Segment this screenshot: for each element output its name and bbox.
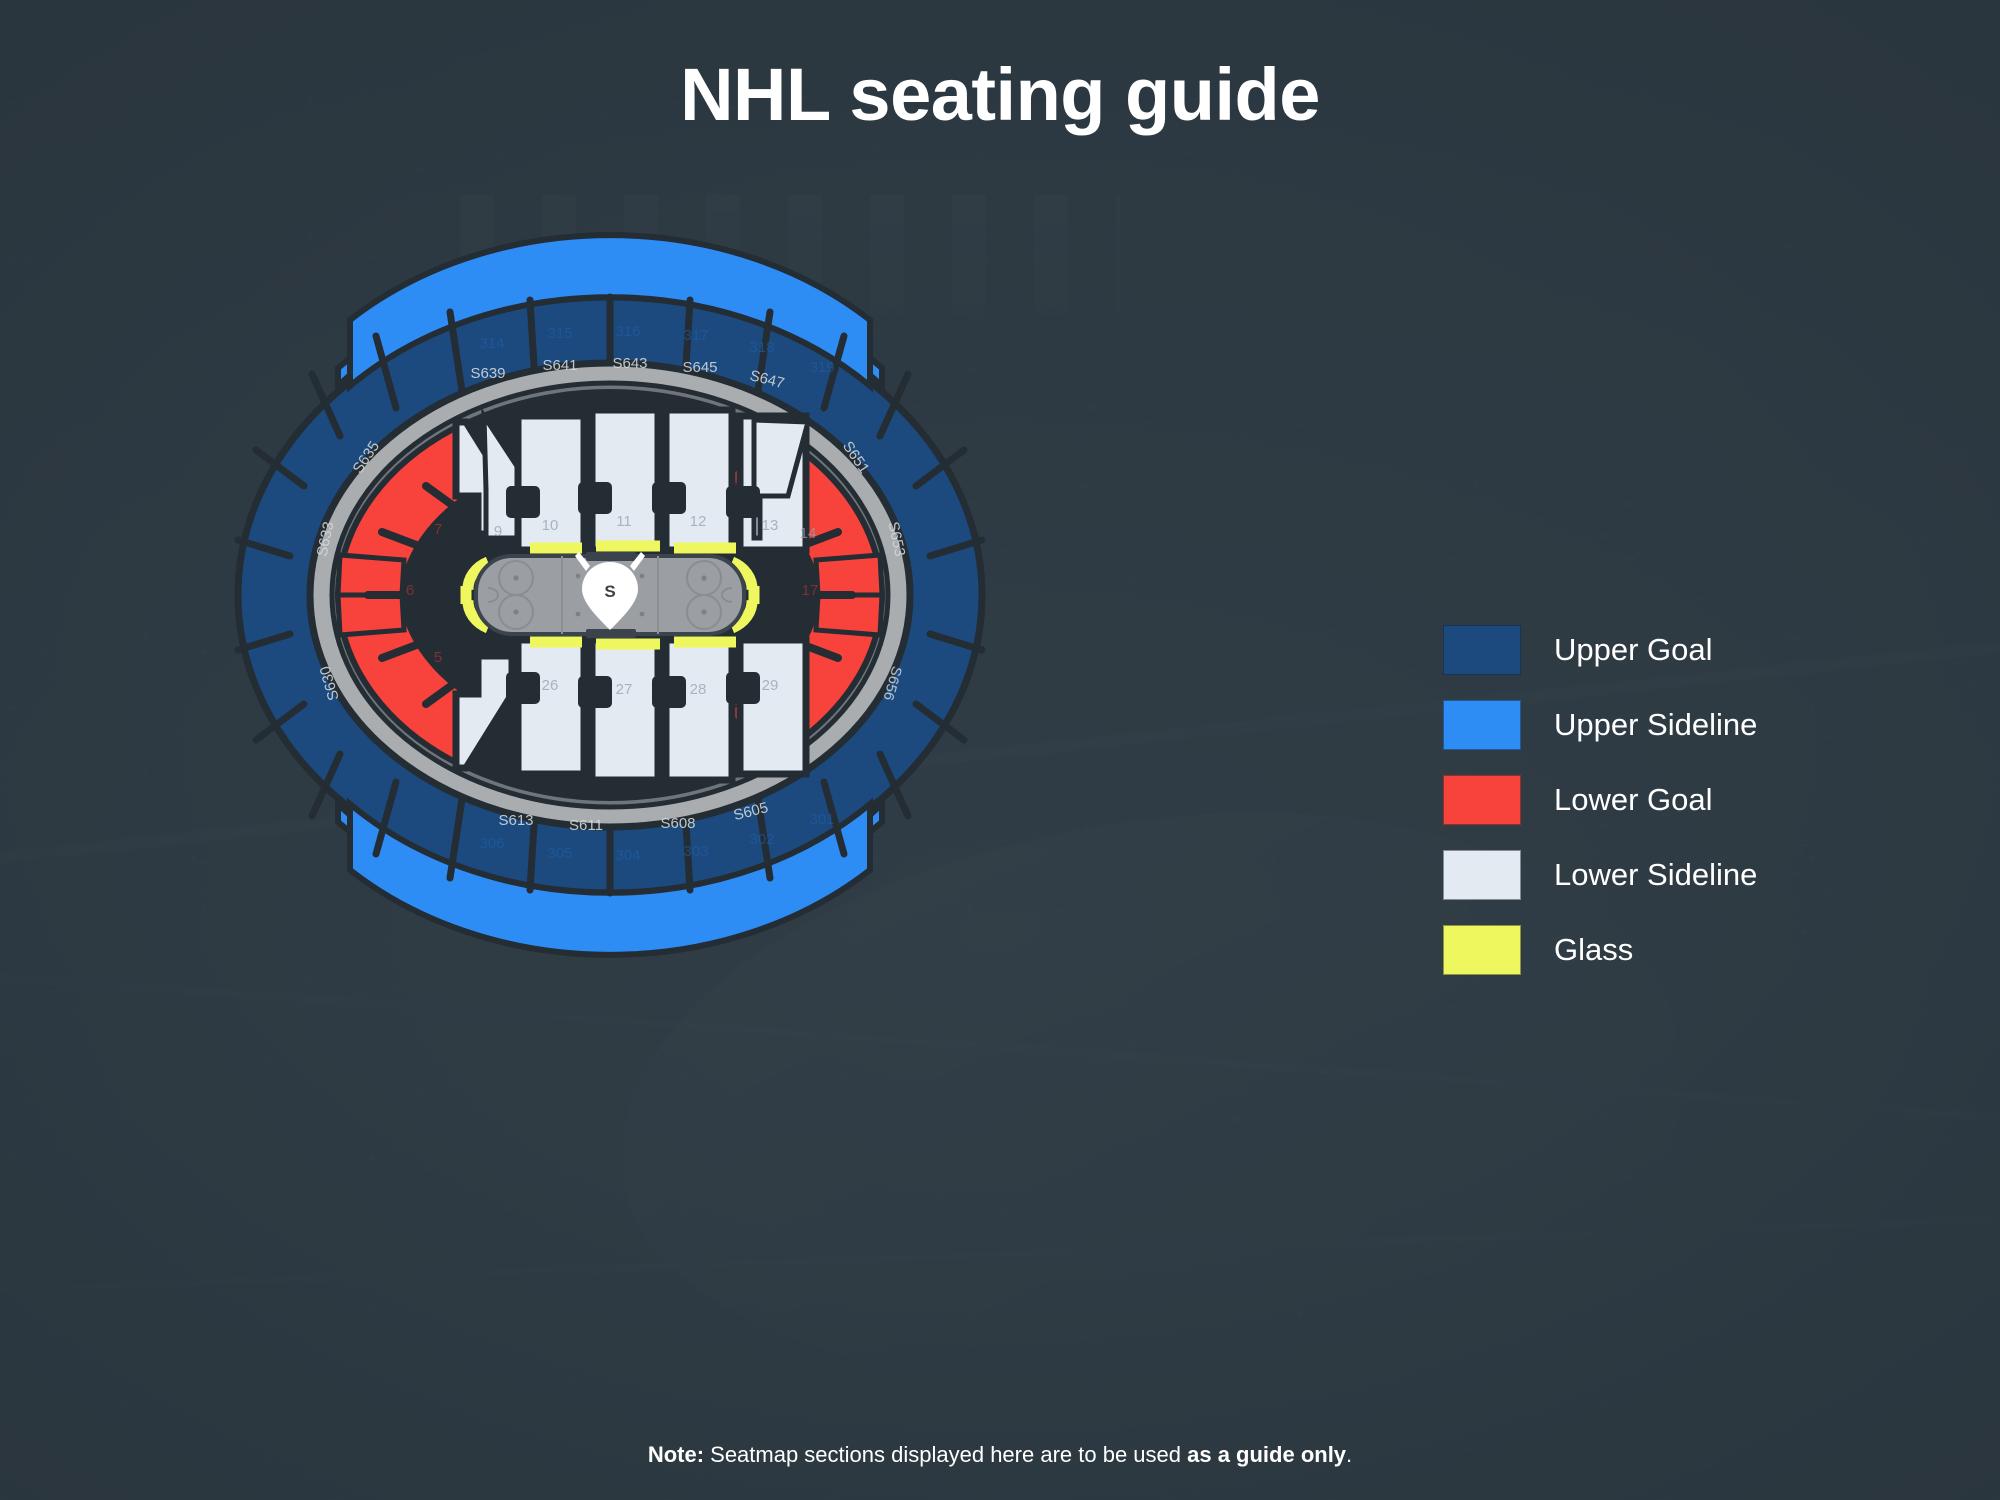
- legend-label-upper-sideline: Upper Sideline: [1554, 707, 1757, 743]
- svg-text:S608: S608: [660, 815, 695, 832]
- svg-text:314: 314: [479, 335, 504, 352]
- footer-note-body: Seatmap sections displayed here are to b…: [704, 1442, 1187, 1467]
- legend-label-upper-goal: Upper Goal: [1554, 632, 1713, 668]
- svg-text:302: 302: [749, 831, 774, 848]
- seatmap-geometry: 314315 316317 318319 306305 304303 30230…: [238, 235, 982, 955]
- legend: Upper Goal Upper Sideline Lower Goal Low…: [1443, 612, 1757, 987]
- legend-label-lower-goal: Lower Goal: [1554, 782, 1713, 818]
- svg-text:316: 316: [615, 323, 640, 340]
- svg-text:315: 315: [547, 325, 572, 342]
- svg-text:303: 303: [683, 843, 708, 860]
- legend-item-glass[interactable]: Glass: [1443, 912, 1757, 987]
- legend-label-glass: Glass: [1554, 932, 1633, 968]
- svg-text:14: 14: [800, 525, 817, 542]
- legend-swatch-lower-sideline: [1443, 850, 1521, 900]
- svg-text:27: 27: [616, 681, 633, 698]
- svg-text:301: 301: [809, 811, 834, 828]
- svg-text:11: 11: [616, 513, 632, 530]
- svg-text:S641: S641: [542, 357, 577, 374]
- svg-text:317: 317: [683, 327, 708, 344]
- svg-text:S613: S613: [498, 812, 533, 829]
- svg-text:319: 319: [809, 359, 834, 376]
- legend-swatch-upper-goal: [1443, 625, 1521, 675]
- svg-text:26: 26: [542, 677, 559, 694]
- center-ice-logo-letter: S: [604, 582, 615, 601]
- legend-swatch-lower-goal: [1443, 775, 1521, 825]
- legend-item-lower-sideline[interactable]: Lower Sideline: [1443, 837, 1757, 912]
- svg-text:17: 17: [802, 582, 819, 599]
- page-title: NHL seating guide: [0, 52, 2000, 137]
- arena-seatmap[interactable]: 314315 316317 318319 306305 304303 30230…: [230, 290, 990, 900]
- legend-swatch-glass: [1443, 925, 1521, 975]
- svg-text:S645: S645: [682, 359, 717, 376]
- svg-text:S611: S611: [569, 817, 603, 834]
- svg-text:9: 9: [494, 523, 502, 540]
- svg-text:S643: S643: [612, 355, 647, 372]
- svg-text:5: 5: [434, 649, 442, 666]
- svg-text:10: 10: [542, 517, 559, 534]
- svg-text:12: 12: [690, 513, 707, 530]
- svg-text:305: 305: [547, 845, 572, 862]
- svg-text:29: 29: [762, 677, 779, 694]
- legend-item-lower-goal[interactable]: Lower Goal: [1443, 762, 1757, 837]
- footer-note-suffix: .: [1346, 1442, 1352, 1467]
- footer-note: Note: Seatmap sections displayed here ar…: [0, 1442, 2000, 1468]
- svg-text:28: 28: [690, 681, 707, 698]
- svg-text:7: 7: [434, 521, 442, 538]
- svg-text:306: 306: [479, 835, 504, 852]
- svg-text:304: 304: [615, 847, 640, 864]
- svg-text:13: 13: [762, 517, 779, 534]
- svg-text:S639: S639: [470, 365, 505, 382]
- legend-item-upper-goal[interactable]: Upper Goal: [1443, 612, 1757, 687]
- footer-note-prefix: Note:: [648, 1442, 704, 1467]
- footer-note-emphasis: as a guide only: [1187, 1442, 1346, 1467]
- legend-swatch-upper-sideline: [1443, 700, 1521, 750]
- svg-text:318: 318: [749, 339, 774, 356]
- legend-item-upper-sideline[interactable]: Upper Sideline: [1443, 687, 1757, 762]
- legend-label-lower-sideline: Lower Sideline: [1554, 857, 1757, 893]
- svg-text:6: 6: [406, 582, 414, 599]
